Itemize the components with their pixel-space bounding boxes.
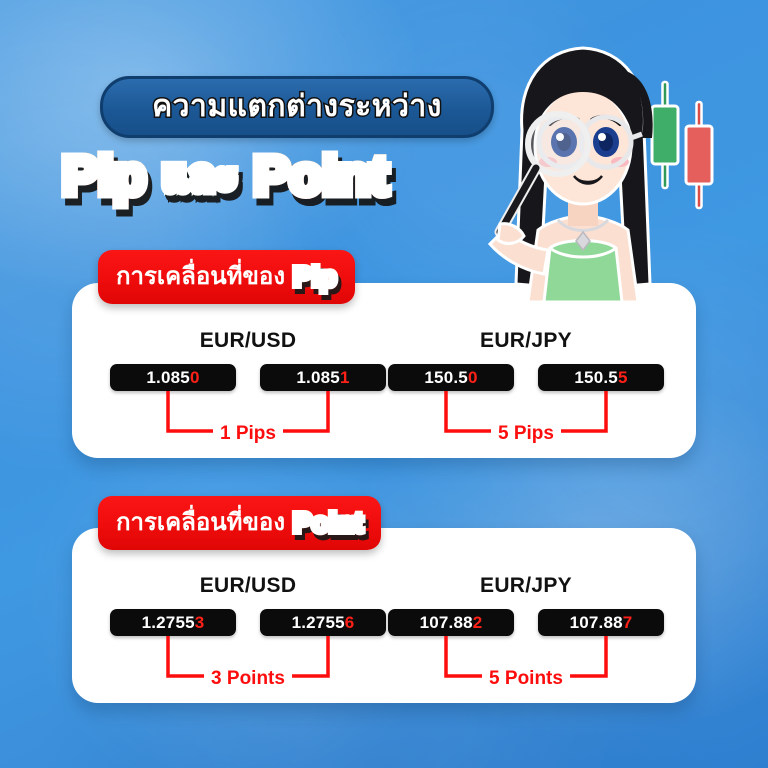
value-chip-group: 107.882 107.887 <box>388 609 664 636</box>
point-connector: 5 Points <box>388 636 664 688</box>
chip-value-highlight: 2 <box>473 613 483 633</box>
point-amount-label: 3 Points <box>204 669 292 688</box>
value-chip-from: 1.27553 <box>110 609 236 636</box>
point-ribbon-badge: Point <box>293 509 363 537</box>
value-chip-to: 1.0851 <box>260 364 386 391</box>
pip-amount-label: 1 Pips <box>213 424 283 443</box>
infographic-canvas: ความแตกต่างระหว่าง Pip และ Point การเคลื… <box>0 0 768 768</box>
pip-ribbon-label: การเคลื่อนที่ของ <box>116 265 285 289</box>
chip-value-prefix: 1.2755 <box>292 613 345 633</box>
chip-value-highlight: 0 <box>190 368 200 388</box>
chip-value-highlight: 5 <box>618 368 628 388</box>
chip-value-prefix: 150.5 <box>574 368 618 388</box>
pair-label: EUR/USD <box>110 330 386 351</box>
chip-value-prefix: 1.2755 <box>142 613 195 633</box>
pip-ribbon-badge: Pip <box>293 263 337 291</box>
value-chip-from: 150.50 <box>388 364 514 391</box>
title-word-pip: Pip <box>62 149 146 203</box>
pair-label: EUR/JPY <box>388 575 664 596</box>
page-title: Pip และ Point <box>62 142 522 210</box>
value-chip-from: 1.0850 <box>110 364 236 391</box>
pip-section-ribbon: การเคลื่อนที่ของ Pip <box>98 250 355 304</box>
point-section-ribbon: การเคลื่อนที่ของ Point <box>98 496 381 550</box>
header-pill: ความแตกต่างระหว่าง <box>100 76 494 138</box>
title-conjunction: และ <box>162 155 237 197</box>
chip-value-highlight: 7 <box>623 613 633 633</box>
value-chip-from: 107.882 <box>388 609 514 636</box>
title-word-point: Point <box>253 149 388 203</box>
point-connector: 3 Points <box>110 636 386 688</box>
value-chip-group: 150.50 150.55 <box>388 364 664 391</box>
chip-value-prefix: 1.085 <box>296 368 340 388</box>
chip-value-highlight: 3 <box>195 613 205 633</box>
value-chip-to: 107.887 <box>538 609 664 636</box>
chip-value-prefix: 107.88 <box>570 613 623 633</box>
point-ribbon-label: การเคลื่อนที่ของ <box>116 511 285 535</box>
point-pair-eurjpy: EUR/JPY 107.882 107.887 5 Points <box>388 575 664 688</box>
pip-amount-label: 5 Pips <box>491 424 561 443</box>
chip-value-prefix: 107.88 <box>420 613 473 633</box>
pip-connector: 5 Pips <box>388 391 664 443</box>
point-amount-label: 5 Points <box>482 669 570 688</box>
header-pill-text: ความแตกต่างระหว่าง <box>152 92 442 122</box>
pip-connector: 1 Pips <box>110 391 386 443</box>
value-chip-group: 1.0850 1.0851 <box>110 364 386 391</box>
chip-value-prefix: 1.085 <box>146 368 190 388</box>
chip-value-highlight: 1 <box>340 368 350 388</box>
value-chip-group: 1.27553 1.27556 <box>110 609 386 636</box>
chip-value-highlight: 6 <box>345 613 355 633</box>
value-chip-to: 1.27556 <box>260 609 386 636</box>
pip-pair-eurjpy: EUR/JPY 150.50 150.55 5 Pips <box>388 330 664 443</box>
chip-value-prefix: 150.5 <box>424 368 468 388</box>
chip-value-highlight: 0 <box>468 368 478 388</box>
pair-label: EUR/USD <box>110 575 386 596</box>
value-chip-to: 150.55 <box>538 364 664 391</box>
point-pair-eurusd: EUR/USD 1.27553 1.27556 3 Points <box>110 575 386 688</box>
pair-label: EUR/JPY <box>388 330 664 351</box>
pip-pair-eurusd: EUR/USD 1.0850 1.0851 1 Pips <box>110 330 386 443</box>
